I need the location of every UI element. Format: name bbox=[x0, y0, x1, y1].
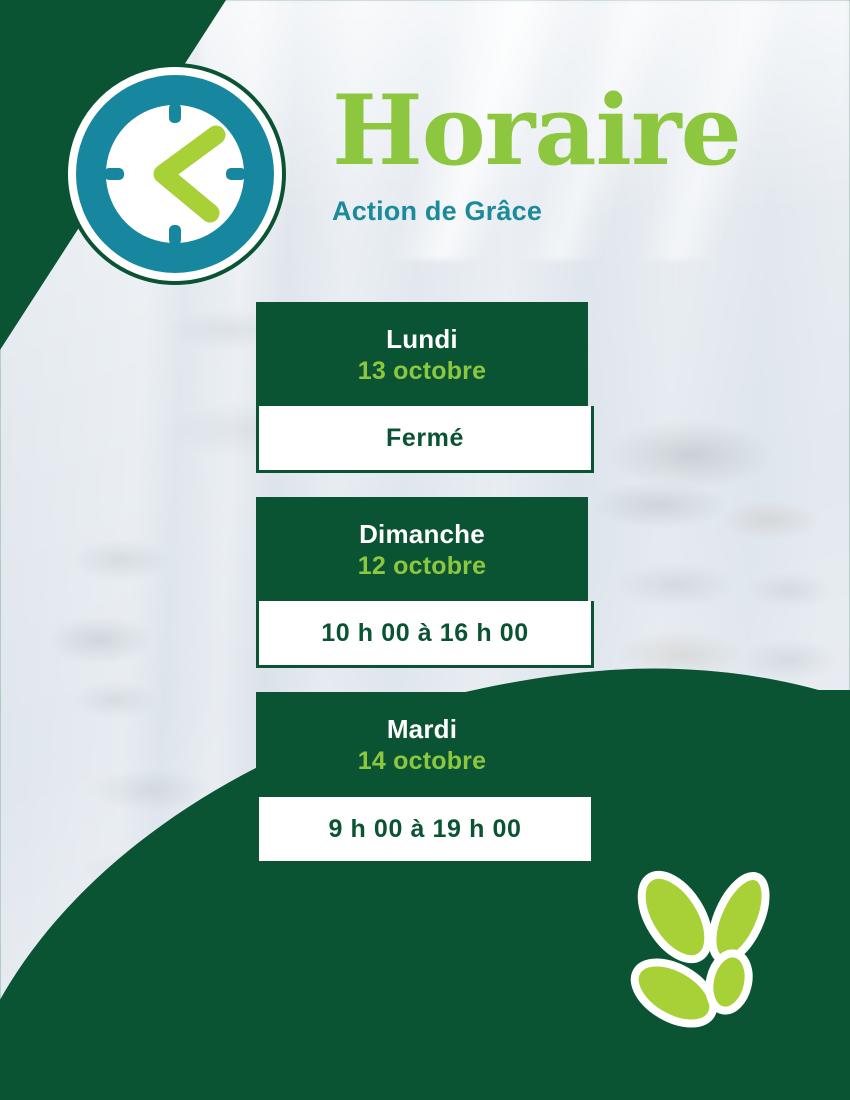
schedule-card: Dimanche 12 octobre 10 h 00 à 16 h 00 bbox=[256, 497, 596, 668]
schedule-card-body: 9 h 00 à 19 h 00 bbox=[256, 797, 594, 864]
heading-block: Horaire Action de Grâce bbox=[332, 84, 812, 227]
schedule-date: 14 octobre bbox=[256, 746, 588, 777]
schedule-card-header: Dimanche 12 octobre bbox=[256, 497, 588, 601]
schedule-card: Lundi 13 octobre Fermé bbox=[256, 302, 596, 473]
schedule-hours: Fermé bbox=[259, 424, 591, 453]
schedule-date: 13 octobre bbox=[256, 356, 588, 387]
butterfly-logo-icon bbox=[616, 862, 804, 1050]
page-subtitle: Action de Grâce bbox=[332, 196, 812, 227]
schedule-card: Mardi 14 octobre 9 h 00 à 19 h 00 bbox=[256, 692, 596, 863]
page-title: Horaire bbox=[332, 84, 812, 178]
schedule-date: 12 octobre bbox=[256, 551, 588, 582]
schedule-card-list: Lundi 13 octobre Fermé Dimanche 12 octob… bbox=[256, 302, 596, 864]
schedule-hours: 10 h 00 à 16 h 00 bbox=[259, 619, 591, 648]
schedule-card-body: Fermé bbox=[256, 406, 594, 473]
schedule-hours: 9 h 00 à 19 h 00 bbox=[259, 815, 591, 844]
schedule-card-body: 10 h 00 à 16 h 00 bbox=[256, 601, 594, 668]
holiday-hours-poster: Horaire Action de Grâce Lundi 13 octobre… bbox=[0, 0, 850, 1100]
schedule-card-header: Mardi 14 octobre bbox=[256, 692, 588, 796]
schedule-card-header: Lundi 13 octobre bbox=[256, 302, 588, 406]
clock-icon bbox=[64, 63, 286, 285]
schedule-day: Dimanche bbox=[256, 519, 588, 551]
schedule-day: Mardi bbox=[256, 714, 588, 746]
schedule-day: Lundi bbox=[256, 324, 588, 356]
